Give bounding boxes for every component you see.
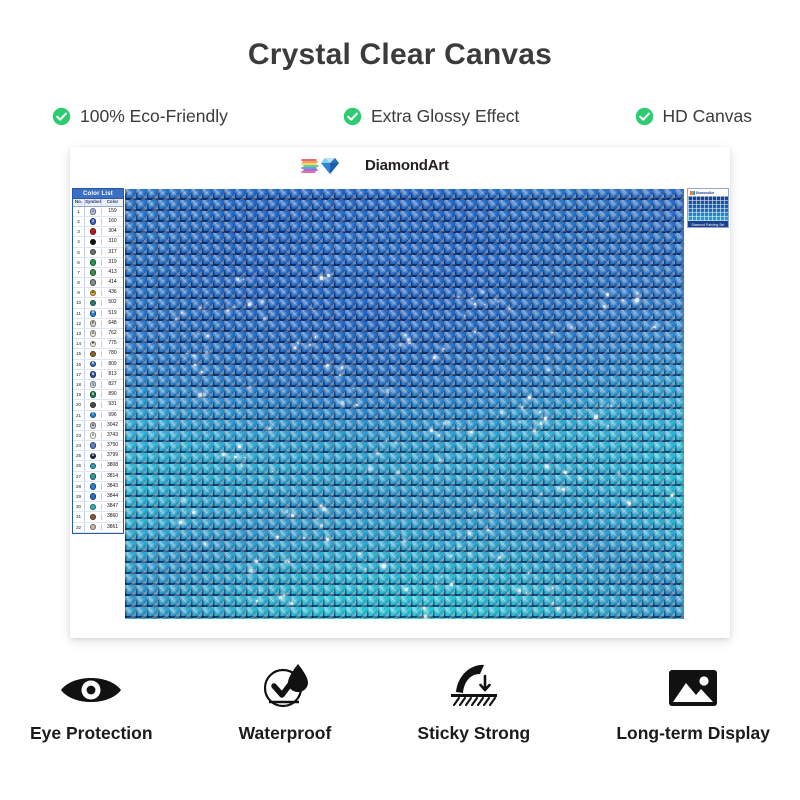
diamond-icon — [690, 191, 695, 195]
row-number: 26 — [73, 461, 85, 470]
sparkle-dot — [548, 589, 550, 591]
feature-icon-row: Eye Protection Waterproof — [30, 662, 770, 744]
sparkle-dot — [438, 435, 439, 436]
row-symbol-cell: S — [85, 391, 102, 398]
symbol-swatch-icon: 1 — [90, 208, 97, 215]
sparkle-dot — [204, 308, 205, 309]
symbol-swatch-icon: U — [90, 422, 97, 429]
sparkle-dot — [636, 292, 639, 295]
sparkle-dot — [622, 300, 624, 302]
sparkle-dot — [500, 411, 503, 414]
color-list-row: 293844 — [73, 492, 123, 502]
sparkle-dot — [538, 500, 540, 502]
sparkle-dot — [268, 427, 271, 430]
sparkle-dot — [309, 344, 311, 346]
sparkle-dot — [405, 588, 408, 591]
row-color-code: 3799 — [102, 451, 123, 460]
symbol-swatch-icon — [90, 504, 97, 511]
sparkle-dot — [528, 572, 530, 574]
sparkle-dot — [578, 417, 580, 419]
sparkle-dot — [570, 326, 573, 329]
row-number: 17 — [73, 370, 85, 379]
symbol-swatch-icon: G — [90, 330, 97, 337]
sparkle-dot — [294, 347, 296, 349]
sparkle-dot — [443, 422, 446, 425]
sparkle-dot — [326, 538, 329, 541]
sparkle-dot — [234, 456, 237, 459]
row-number: 14 — [73, 339, 85, 348]
color-list-row: 11159 — [73, 207, 123, 217]
symbol-swatch-icon — [90, 228, 97, 235]
row-color-code: 304 — [102, 227, 123, 236]
sparkle-dot — [607, 425, 609, 427]
sparkle-dot — [320, 276, 323, 279]
sparkle-dot — [341, 401, 345, 405]
row-color-code: 827 — [102, 380, 123, 389]
sparkle-dot — [497, 301, 498, 302]
row-symbol-cell — [85, 524, 102, 531]
sparkle-dot — [552, 602, 554, 604]
sparkle-dot — [186, 353, 187, 354]
sparkle-dot — [458, 536, 459, 537]
color-list-row: 18Q827 — [73, 380, 123, 390]
sparkle-dot — [248, 303, 251, 306]
droplet-check-icon — [257, 662, 313, 710]
sparkle-dot — [424, 615, 427, 618]
color-list-row: 4310 — [73, 237, 123, 247]
sparkle-dot — [255, 560, 258, 563]
sparkle-dot — [603, 305, 606, 308]
row-number: 16 — [73, 360, 85, 369]
row-color-code: 3814 — [102, 472, 123, 481]
sparkle-dot — [244, 457, 246, 459]
color-list-row: 323861 — [73, 523, 123, 533]
sparkle-dot — [203, 393, 206, 396]
sparkle-dot — [498, 556, 501, 559]
row-color-code: 648 — [102, 319, 123, 328]
bullet-label: 100% Eco-Friendly — [80, 106, 228, 127]
sparkle-dot — [458, 546, 459, 547]
row-symbol-cell: X — [85, 453, 102, 460]
row-color-code: 414 — [102, 278, 123, 287]
sparkle-dot — [249, 386, 251, 388]
symbol-swatch-icon — [90, 269, 97, 276]
sparkle-dot — [327, 274, 330, 277]
sparkle-dot — [259, 590, 260, 591]
color-list-row: 20931 — [73, 400, 123, 410]
symbol-swatch-icon — [90, 249, 97, 256]
row-number: 32 — [73, 523, 85, 532]
sparkle-dot — [303, 537, 306, 540]
row-color-code: 319 — [102, 258, 123, 267]
row-color-code: 775 — [102, 339, 123, 348]
feature-label: Long-term Display — [616, 723, 770, 744]
check-circle-icon — [343, 107, 362, 126]
eye-icon — [59, 670, 123, 710]
row-color-code: 3743 — [102, 431, 123, 440]
sparkle-dot — [382, 564, 386, 568]
sparkle-dot — [198, 333, 200, 335]
thumbnail-drill-grid — [688, 196, 728, 221]
row-symbol-cell — [85, 493, 102, 500]
sparkle-dot — [547, 369, 550, 372]
row-color-code: 519 — [102, 309, 123, 318]
row-number: 30 — [73, 502, 85, 511]
row-color-code: 780 — [102, 349, 123, 358]
sparkle-dot — [320, 524, 323, 527]
sparkle-dot — [356, 404, 358, 406]
feature-sticky-strong: Sticky Strong — [417, 662, 530, 744]
peel-icon — [446, 662, 502, 710]
row-color-code: 3847 — [102, 502, 123, 511]
sparkle-dot — [508, 308, 511, 311]
sparkle-dot — [263, 317, 266, 320]
sparkle-dot — [193, 355, 195, 357]
sparkle-dot — [544, 417, 548, 421]
row-number: 1 — [73, 207, 85, 216]
sparkle-dot — [290, 602, 293, 605]
color-list-row: 3304 — [73, 227, 123, 237]
row-symbol-cell — [85, 300, 102, 307]
sparkle-dot — [192, 511, 195, 514]
color-list-row: 13G762 — [73, 329, 123, 339]
feature-label: Eye Protection — [30, 723, 153, 744]
row-symbol-cell: G — [85, 330, 102, 337]
color-list-header: No. Symbol Color — [73, 199, 123, 207]
sparkle-dot — [474, 331, 476, 333]
color-list-row: 15780 — [73, 349, 123, 359]
color-list-row: 7413 — [73, 268, 123, 278]
row-symbol-cell — [85, 279, 102, 286]
sparkle-dot — [314, 266, 316, 268]
color-list-row: 313860 — [73, 512, 123, 522]
row-number: 10 — [73, 298, 85, 307]
product-feature-page: Crystal Clear Canvas 100% Eco-Friendly E… — [0, 0, 800, 800]
row-number: 22 — [73, 421, 85, 430]
row-number: 18 — [73, 380, 85, 389]
symbol-swatch-icon: K — [90, 361, 97, 368]
color-list-rows: 11159221603304431053176319741384149A4361… — [73, 207, 123, 533]
sparkle-dot — [495, 299, 496, 300]
sparkle-dot — [207, 335, 209, 337]
row-number: 12 — [73, 319, 85, 328]
sparkle-dot — [653, 326, 656, 329]
symbol-swatch-icon: X — [90, 453, 97, 460]
row-color-code: 931 — [102, 400, 123, 409]
sparkle-dot — [484, 304, 485, 305]
sparkle-dot — [526, 592, 528, 594]
symbol-swatch-icon: H — [90, 341, 97, 348]
sparkle-dot — [222, 453, 225, 456]
bullet-label: Extra Glossy Effect — [371, 106, 519, 127]
sparkle-dot — [249, 569, 253, 573]
sparkle-dot — [342, 366, 344, 368]
row-symbol-cell — [85, 442, 102, 449]
row-color-code: 3750 — [102, 441, 123, 450]
diamond-icon — [301, 156, 359, 175]
row-symbol-cell: 1 — [85, 208, 102, 215]
sparkle-dot — [474, 303, 476, 305]
symbol-swatch-icon — [90, 300, 97, 307]
row-symbol-cell: N — [85, 371, 102, 378]
sparkle-dot — [487, 529, 490, 532]
sparkle-dot — [594, 415, 597, 418]
sparkle-dot — [547, 358, 548, 359]
sparkle-dot — [291, 514, 294, 517]
sparkle-dot — [610, 405, 612, 407]
sparkle-dot — [320, 505, 322, 507]
symbol-swatch-icon — [90, 279, 97, 286]
row-symbol-cell: U — [85, 422, 102, 429]
column-no: No. — [73, 199, 85, 206]
sparkle-dot — [430, 429, 433, 432]
color-list-row: 25X3799 — [73, 451, 123, 461]
sparkle-dot — [586, 409, 587, 410]
symbol-swatch-icon: 2 — [90, 218, 97, 225]
thumbnail-logo: DiamondArt — [688, 189, 728, 196]
row-symbol-cell — [85, 514, 102, 521]
sparkle-dot — [399, 343, 402, 346]
sparkle-dot — [562, 488, 565, 491]
feature-waterproof: Waterproof — [239, 662, 332, 744]
check-circle-icon — [52, 107, 71, 126]
row-number: 29 — [73, 492, 85, 501]
feature-eye-protection: Eye Protection — [30, 670, 153, 744]
sparkle-dot — [606, 293, 609, 296]
sparkle-dot — [395, 442, 397, 444]
sparkle-dot — [470, 553, 471, 554]
sparkle-dot — [567, 325, 569, 327]
row-color-code: 310 — [102, 237, 123, 246]
row-symbol-cell — [85, 269, 102, 276]
product-card: DiamondArt Color List No. Symbol Color 1… — [70, 147, 730, 638]
sparkle-dot — [492, 515, 493, 516]
feature-long-term-display: Long-term Display — [616, 666, 770, 744]
sparkle-dot — [353, 388, 354, 389]
canvas-artwork — [125, 189, 684, 619]
row-color-code: 3861 — [102, 523, 123, 532]
sparkle-dot — [243, 279, 244, 280]
sparkle-dot — [315, 336, 317, 338]
sparkle-dot — [341, 367, 343, 369]
symbol-swatch-icon: S — [90, 391, 97, 398]
check-circle-icon — [635, 107, 654, 126]
row-number: 15 — [73, 349, 85, 358]
sparkle-dot — [436, 583, 437, 584]
color-list-row: 16K809 — [73, 360, 123, 370]
color-list-title: Color List — [73, 189, 123, 199]
sparkle-dot — [552, 587, 554, 589]
row-color-code: 3808 — [102, 461, 123, 470]
sparkle-dot — [551, 332, 553, 334]
sparkle-dot — [450, 555, 452, 557]
color-list-row: 263808 — [73, 461, 123, 471]
row-color-code: 3860 — [102, 512, 123, 521]
sparkle-dot — [558, 487, 560, 489]
row-symbol-cell — [85, 473, 102, 480]
sparkle-dot — [458, 428, 460, 430]
row-number: 25 — [73, 451, 85, 460]
bullet-hd-canvas: HD Canvas — [635, 106, 752, 127]
sparkle-dot — [205, 351, 208, 354]
row-color-code: 890 — [102, 390, 123, 399]
row-number: 7 — [73, 268, 85, 277]
sparkle-dot — [519, 421, 521, 423]
preview-thumbnail: DiamondArt Diamond Painting Set — [687, 188, 729, 228]
symbol-swatch-icon — [90, 239, 97, 246]
color-list-row: 22U3042 — [73, 421, 123, 431]
sparkle-dot — [253, 277, 254, 278]
row-number: 24 — [73, 441, 85, 450]
row-color-code: 762 — [102, 329, 123, 338]
sparkle-dot — [181, 501, 182, 502]
symbol-swatch-icon: A — [90, 290, 97, 297]
row-color-code: 3844 — [102, 492, 123, 501]
sparkle-dot — [199, 307, 201, 309]
row-number: 31 — [73, 512, 85, 521]
sparkle-dot — [601, 406, 602, 407]
row-symbol-cell — [85, 239, 102, 246]
sparkle-dot — [564, 471, 567, 474]
symbol-swatch-icon — [90, 493, 97, 500]
row-number: 8 — [73, 278, 85, 287]
row-number: 21 — [73, 411, 85, 420]
sparkle-dot — [481, 420, 483, 422]
sparkle-dot — [470, 431, 473, 434]
sparkle-dot — [539, 411, 541, 413]
color-list-row: 23V3743 — [73, 431, 123, 441]
sparkle-dot — [404, 334, 406, 336]
row-symbol-cell: H — [85, 341, 102, 348]
symbol-swatch-icon — [90, 351, 97, 358]
row-symbol-cell: 2 — [85, 218, 102, 225]
symbol-swatch-icon — [90, 402, 97, 409]
row-number: 23 — [73, 431, 85, 440]
row-symbol-cell: Q — [85, 381, 102, 388]
color-list-row: 283843 — [73, 482, 123, 492]
brand-logo: DiamondArt — [301, 156, 449, 175]
symbol-swatch-icon: T — [90, 412, 97, 419]
row-number: 2 — [73, 217, 85, 226]
thumbnail-brand-name: DiamondArt — [696, 191, 714, 195]
row-number: 6 — [73, 258, 85, 267]
row-color-code: 3042 — [102, 421, 123, 430]
sparkle-dot — [403, 539, 406, 542]
sparkle-dot — [386, 389, 389, 392]
sparkle-dot — [276, 536, 279, 539]
symbol-swatch-icon: F — [90, 320, 97, 327]
sparkle-dot — [618, 473, 621, 476]
sparkle-dot — [184, 499, 185, 500]
row-number: 9 — [73, 288, 85, 297]
row-symbol-cell — [85, 504, 102, 511]
sparkle-dot — [198, 393, 201, 396]
sparkle-dot — [297, 342, 299, 344]
row-symbol-cell: A — [85, 290, 102, 297]
sparkle-dot — [283, 594, 285, 596]
row-number: 3 — [73, 227, 85, 236]
color-list-row: 5317 — [73, 248, 123, 258]
bullet-eco-friendly: 100% Eco-Friendly — [52, 106, 228, 127]
row-symbol-cell — [85, 463, 102, 470]
feature-bullets: 100% Eco-Friendly Extra Glossy Effect HD… — [52, 106, 752, 127]
color-list-row: 21T996 — [73, 411, 123, 421]
sparkle-dot — [396, 471, 399, 474]
color-list-row: 19S890 — [73, 390, 123, 400]
color-list-row: 11D519 — [73, 309, 123, 319]
color-list-panel: Color List No. Symbol Color 111592216033… — [72, 188, 124, 534]
sparkle-dot — [368, 467, 371, 470]
row-number: 13 — [73, 329, 85, 338]
sparkle-dot — [279, 596, 282, 599]
row-color-code: 3843 — [102, 482, 123, 491]
symbol-swatch-icon: N — [90, 371, 97, 378]
diamond-canvas-preview — [125, 189, 684, 619]
row-number: 11 — [73, 309, 85, 318]
sparkle-dot — [423, 607, 425, 609]
row-symbol-cell: K — [85, 361, 102, 368]
row-symbol-cell — [85, 483, 102, 490]
sparkle-dot — [442, 348, 445, 351]
sparkle-dot — [433, 356, 436, 359]
row-color-code: 809 — [102, 360, 123, 369]
row-color-code: 160 — [102, 217, 123, 226]
sparkle-dot — [457, 296, 460, 299]
color-list-row: 6319 — [73, 258, 123, 268]
sparkle-dot — [284, 560, 287, 563]
color-list-row: 243750 — [73, 441, 123, 451]
sparkle-dot — [236, 278, 240, 282]
row-number: 5 — [73, 248, 85, 257]
page-title: Crystal Clear Canvas — [0, 38, 800, 72]
color-list-row: 8414 — [73, 278, 123, 288]
sparkle-dot — [468, 532, 471, 535]
row-symbol-cell: V — [85, 432, 102, 439]
bullet-glossy-effect: Extra Glossy Effect — [343, 106, 519, 127]
column-symbol: Symbol — [85, 199, 102, 206]
sparkle-dot — [256, 600, 259, 603]
row-color-code: 436 — [102, 288, 123, 297]
sparkle-dot — [450, 583, 453, 586]
sparkle-dot — [448, 421, 451, 424]
sparkle-dot — [579, 477, 582, 480]
symbol-swatch-icon — [90, 473, 97, 480]
sparkle-dot — [518, 589, 521, 592]
sparkle-dot — [540, 493, 542, 495]
symbol-swatch-icon — [90, 259, 97, 266]
row-number: 4 — [73, 237, 85, 246]
sparkle-dot — [407, 338, 410, 341]
sparkle-dot — [386, 440, 388, 442]
symbol-swatch-icon: V — [90, 432, 97, 439]
sparkle-dot — [181, 312, 183, 314]
column-color: Color — [102, 199, 123, 206]
sparkle-dot — [557, 607, 560, 610]
symbol-swatch-icon: D — [90, 310, 97, 317]
sparkle-dot — [521, 406, 524, 409]
symbol-swatch-icon — [90, 463, 97, 470]
sparkle-dot — [326, 364, 329, 367]
sparkle-dot — [464, 315, 465, 316]
row-number: 19 — [73, 390, 85, 399]
sparkle-dot — [227, 309, 229, 311]
sparkle-dot — [474, 509, 476, 511]
sparkle-dot — [540, 422, 542, 424]
image-icon — [667, 666, 719, 710]
sparkle-dot — [312, 308, 314, 310]
color-list-row: 9A436 — [73, 288, 123, 298]
symbol-swatch-icon — [90, 514, 97, 521]
